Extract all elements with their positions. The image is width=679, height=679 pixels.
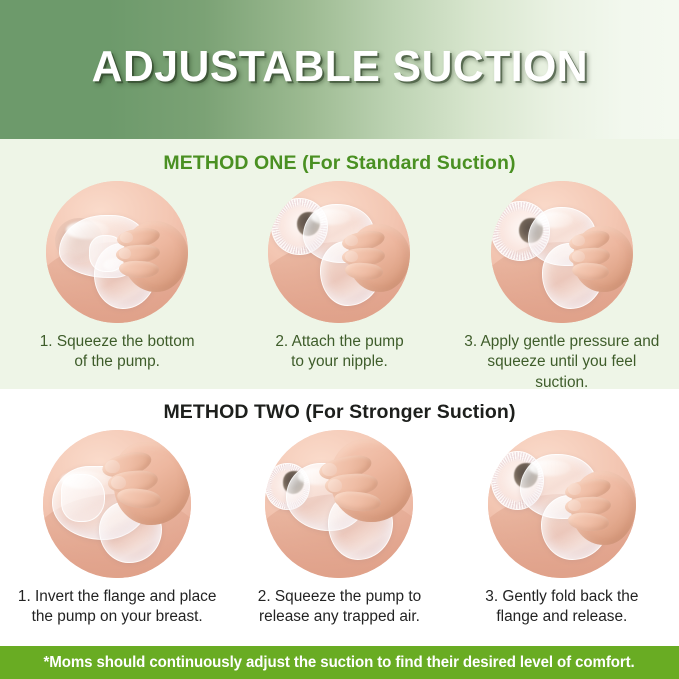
method-one-step-1-caption: 1. Squeeze the bottom of the pump.: [40, 332, 195, 373]
fingernail: [568, 500, 581, 512]
method-two-step-3-caption: 3. Gently fold back the flange and relea…: [485, 587, 638, 628]
infographic-root: ADJUSTABLE SUCTION METHOD ONE (For Stand…: [0, 0, 679, 679]
fingernail: [568, 483, 581, 495]
page-title: ADJUSTABLE SUCTION: [91, 42, 587, 98]
header-banner: ADJUSTABLE SUCTION: [0, 0, 679, 139]
method-one-step-3-caption: 3. Apply gentle pressure and squeeze unt…: [464, 332, 659, 393]
pump-fold-back-flange-photo: [488, 430, 636, 578]
fingernail: [572, 235, 585, 246]
footer-disclaimer-text: *Moms should continuously adjust the suc…: [44, 654, 635, 672]
fingernail: [572, 251, 585, 262]
method-one-steps-row: 1. Squeeze the bottom of the pump.: [0, 181, 679, 393]
footer-banner: *Moms should continuously adjust the suc…: [0, 646, 679, 679]
method-one-section: METHOD ONE (For Standard Suction): [0, 139, 679, 389]
pump-highlight: [311, 209, 351, 225]
fingernail: [328, 479, 343, 492]
fingernail: [345, 235, 358, 246]
fingernail: [322, 463, 337, 476]
fingernail: [119, 248, 132, 259]
pump-apply-pressure-photo: [491, 181, 633, 323]
pump-attach-to-nipple-photo: [268, 181, 410, 323]
method-one-step-1: 1. Squeeze the bottom of the pump.: [6, 181, 228, 393]
pump-invert-flange-photo: [43, 430, 191, 578]
method-one-step-3: 3. Apply gentle pressure and squeeze unt…: [451, 181, 673, 393]
method-one-step-2: 2. Attach the pump to your nipple.: [228, 181, 450, 393]
fingernail: [120, 232, 133, 243]
method-two-step-2-caption: 2. Squeeze the pump to release any trapp…: [258, 587, 421, 628]
method-two-step-1-caption: 1. Invert the flange and place the pump …: [18, 587, 217, 628]
pump-release-trapped-air-photo: [265, 430, 413, 578]
method-two-section: METHOD TWO (For Stronger Suction): [0, 389, 679, 633]
method-two-heading: METHOD TWO (For Stronger Suction): [0, 389, 679, 424]
fingernail: [105, 460, 120, 473]
method-one-step-2-caption: 2. Attach the pump to your nipple.: [275, 332, 403, 373]
fingernail: [111, 476, 126, 489]
pump-highlight: [529, 460, 570, 476]
method-two-step-3: 3. Gently fold back the flange and relea…: [451, 430, 673, 628]
method-two-steps-row: 1. Invert the flange and place the pump …: [0, 430, 679, 628]
pump-highlight: [66, 221, 109, 239]
fingernail: [345, 251, 358, 262]
method-two-step-1: 1. Invert the flange and place the pump …: [6, 430, 228, 628]
method-one-heading: METHOD ONE (For Standard Suction): [0, 139, 679, 175]
pump-highlight: [536, 212, 573, 228]
method-two-step-2: 2. Squeeze the pump to release any trapp…: [228, 430, 450, 628]
pump-squeeze-bottom-photo: [46, 181, 188, 323]
